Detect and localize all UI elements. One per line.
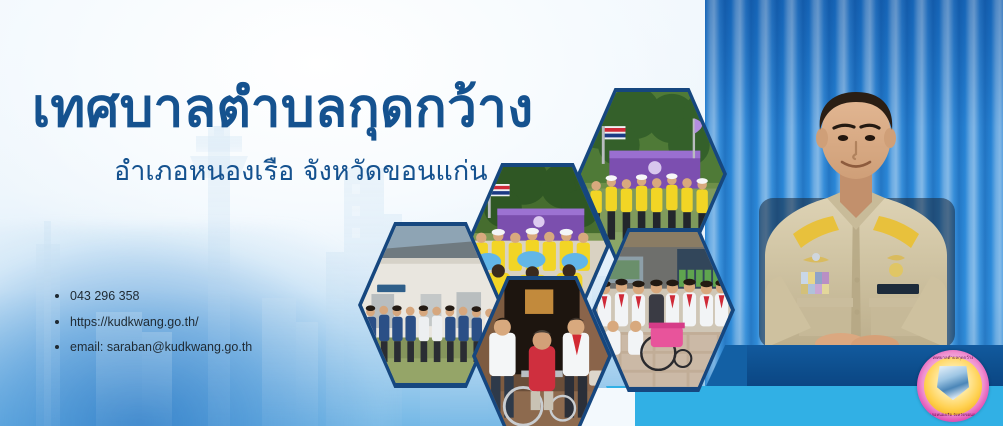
bullet-icon <box>55 320 59 324</box>
seal-text-bottom: อำเภอหนองเรือ จังหวัดขอนแก่น <box>917 412 989 418</box>
contact-website-text[interactable]: https://kudkwang.go.th/ <box>70 316 199 329</box>
page-subtitle: อำเภอหนองเรือ จังหวัดขอนแก่น <box>114 149 632 192</box>
official-portrait <box>741 48 971 348</box>
bullet-icon <box>55 294 59 298</box>
contact-list: 043 296 358 https://kudkwang.go.th/ emai… <box>55 290 252 367</box>
contact-email-text[interactable]: email: saraban@kudkwang.go.th <box>70 341 252 354</box>
contact-email[interactable]: email: saraban@kudkwang.go.th <box>55 341 252 354</box>
contact-website[interactable]: https://kudkwang.go.th/ <box>55 316 252 329</box>
municipality-seal-logo: เทศบาลตำบลกุดกว้าง อำเภอหนองเรือ จังหวัด… <box>917 350 989 422</box>
contact-phone: 043 296 358 <box>55 290 252 303</box>
banner-title-block: เทศบาลตำบลกุดกว้าง อำเภอหนองเรือ จังหวัด… <box>32 78 632 192</box>
page-title: เทศบาลตำบลกุดกว้าง <box>32 78 632 141</box>
seal-text-top: เทศบาลตำบลกุดกว้าง <box>917 354 989 361</box>
contact-phone-text: 043 296 358 <box>70 290 140 303</box>
bullet-icon <box>55 345 59 349</box>
municipality-banner: เทศบาลตำบลกุดกว้าง อำเภอหนองเรือ จังหวัด… <box>0 0 1003 426</box>
